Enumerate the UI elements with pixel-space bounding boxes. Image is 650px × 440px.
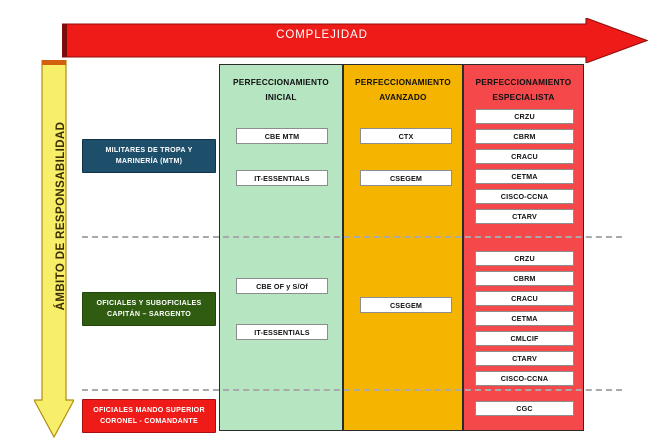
course-chip[interactable]: IT-ESSENTIALS [236, 324, 328, 340]
course-chip[interactable]: CISCO-CCNA [475, 189, 574, 204]
course-chip[interactable]: CBE OF y S/Of [236, 278, 328, 294]
course-chip[interactable]: CSEGEM [360, 170, 452, 186]
course-chip[interactable]: CETMA [475, 311, 574, 326]
course-chip[interactable]: CISCO-CCNA [475, 371, 574, 386]
course-chip[interactable]: CMLCIF [475, 331, 574, 346]
role-line-2: MARINERÍA (MTM) [116, 157, 183, 165]
role-line-2: CORONEL - COMANDANTE [100, 417, 198, 425]
role-label-militares-tropa: MILITARES DE TROPA Y MARINERÍA (MTM) [82, 139, 216, 173]
column-title-line-1: PERFECCIONAMIENTO [476, 77, 572, 87]
course-chip[interactable]: CBRM [475, 129, 574, 144]
column-title-line-2: AVANZADO [379, 92, 426, 102]
column-title-line-2: ESPECIALISTA [492, 92, 554, 102]
column-perfeccionamiento-avanzado: PERFECCIONAMIENTO AVANZADO CTX CSEGEM CS… [343, 64, 463, 431]
role-line-1: OFICIALES MANDO SUPERIOR [93, 406, 205, 414]
role-line-1: MILITARES DE TROPA Y [105, 146, 192, 154]
ambito-responsabilidad-arrow: ÁMBITO DE RESPONSABILIDAD [34, 60, 74, 438]
diagram-canvas: COMPLEJIDAD ÁMBITO DE RESPONSABILIDAD MI… [0, 0, 650, 440]
column-title-line-2: INICIAL [265, 92, 296, 102]
column-title: PERFECCIONAMIENTO AVANZADO [344, 75, 462, 104]
role-label-oficiales-suboficiales: OFICIALES Y SUBOFICIALES CAPITÁN – SARGE… [82, 292, 216, 326]
column-title: PERFECCIONAMIENTO ESPECIALISTA [464, 75, 583, 104]
course-chip[interactable]: CTARV [475, 209, 574, 224]
course-chip[interactable]: CSEGEM [360, 297, 452, 313]
column-perfeccionamiento-especialista: PERFECCIONAMIENTO ESPECIALISTA CRZU CBRM… [463, 64, 584, 431]
complejidad-arrow: COMPLEJIDAD [62, 18, 648, 63]
course-chip[interactable]: CBE MTM [236, 128, 328, 144]
column-title-line-1: PERFECCIONAMIENTO [233, 77, 329, 87]
band-separator-tropa-oficiales [82, 236, 622, 238]
course-chip[interactable]: CETMA [475, 169, 574, 184]
role-line-1: OFICIALES Y SUBOFICIALES [96, 299, 201, 307]
course-chip[interactable]: CBRM [475, 271, 574, 286]
course-chip[interactable]: CTX [360, 128, 452, 144]
course-chip[interactable]: IT-ESSENTIALS [236, 170, 328, 186]
column-perfeccionamiento-inicial: PERFECCIONAMIENTO INICIAL CBE MTM IT-ESS… [219, 64, 343, 431]
column-title: PERFECCIONAMIENTO INICIAL [220, 75, 342, 104]
course-chip[interactable]: CGC [475, 401, 574, 416]
role-line-2: CAPITÁN – SARGENTO [107, 310, 191, 318]
band-separator-oficiales-mando [82, 389, 622, 391]
role-label-mando-superior: OFICIALES MANDO SUPERIOR CORONEL - COMAN… [82, 399, 216, 433]
course-chip[interactable]: CRZU [475, 109, 574, 124]
column-title-line-1: PERFECCIONAMIENTO [355, 77, 451, 87]
course-chip[interactable]: CRACU [475, 291, 574, 306]
course-chip[interactable]: CRACU [475, 149, 574, 164]
course-chip[interactable]: CRZU [475, 251, 574, 266]
course-chip[interactable]: CTARV [475, 351, 574, 366]
